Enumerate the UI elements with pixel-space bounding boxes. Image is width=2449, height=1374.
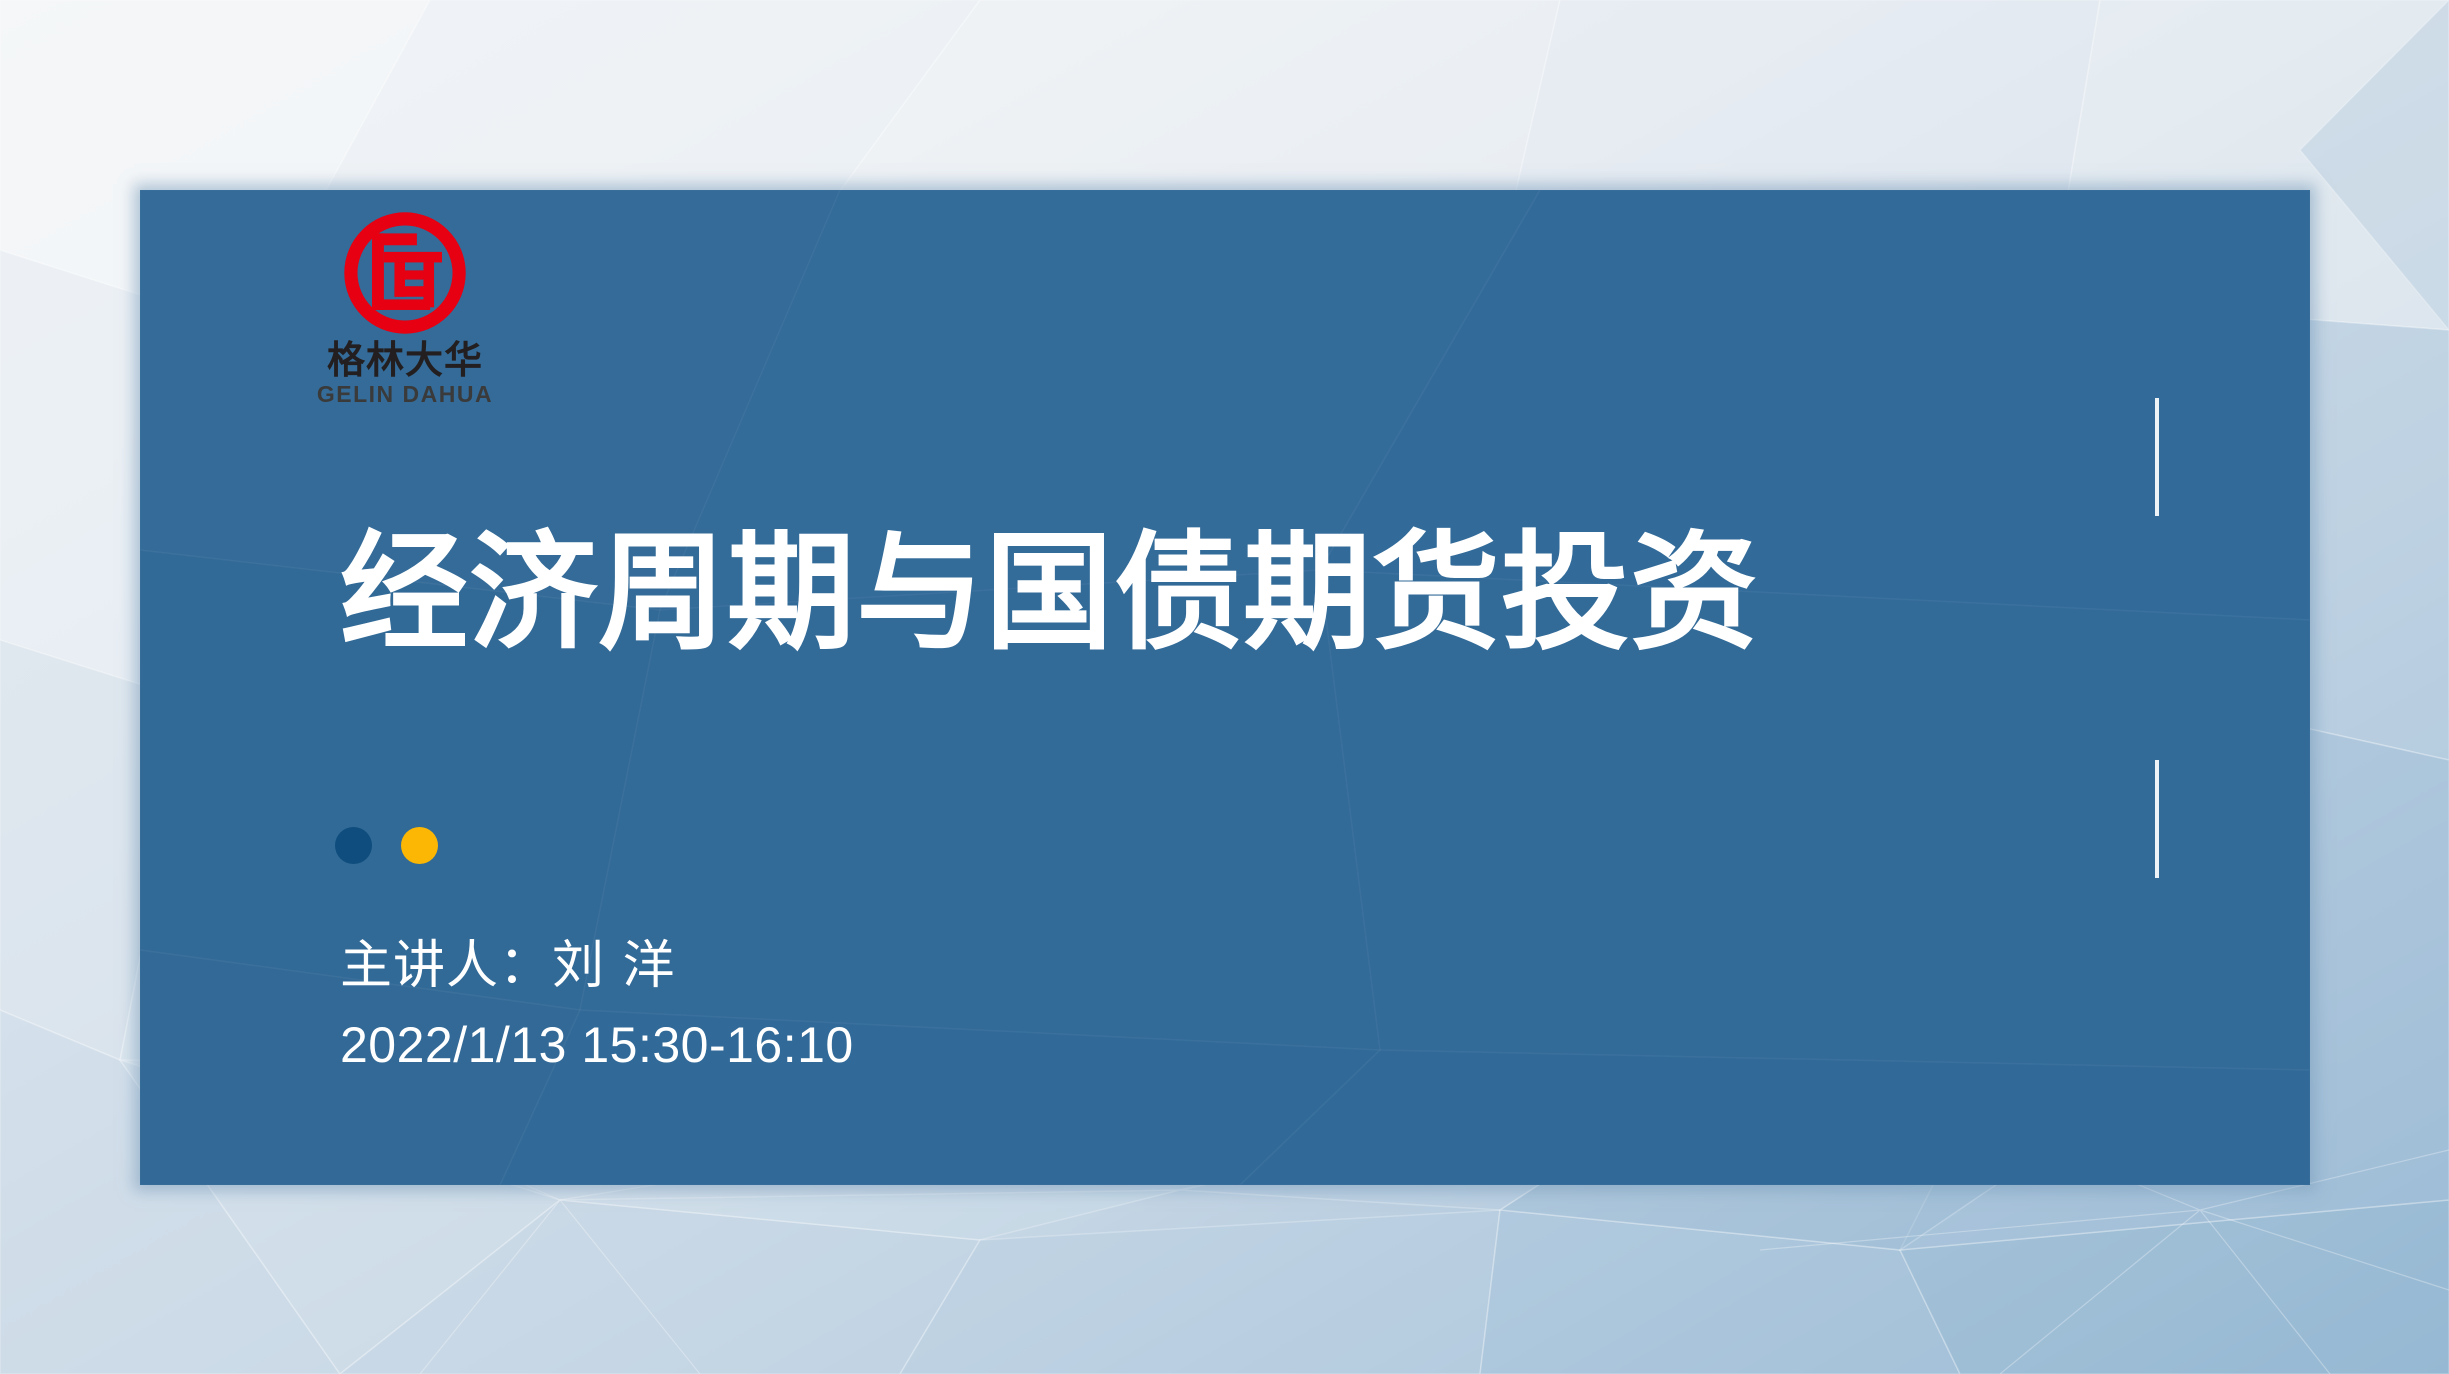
presentation-slide: 格林大华 GELIN DAHUA 经济周期与国债期货投资 主讲人：刘 洋 202… <box>0 0 2449 1374</box>
yellow-dot <box>401 827 438 864</box>
accent-rule-top <box>2155 398 2159 516</box>
title-panel: 格林大华 GELIN DAHUA 经济周期与国债期货投资 主讲人：刘 洋 202… <box>140 190 2310 1185</box>
accent-rule-bottom <box>2155 760 2159 878</box>
logo-name-cn: 格林大华 <box>305 341 505 379</box>
navy-dot <box>335 827 372 864</box>
logo-name-en: GELIN DAHUA <box>305 383 505 406</box>
presenter-label: 主讲人：刘 洋 <box>340 923 676 998</box>
gelin-dahua-seal-icon <box>339 207 471 339</box>
datetime-label: 2022/1/13 15:30-16:10 <box>340 1016 854 1074</box>
company-logo: 格林大华 GELIN DAHUA <box>305 207 505 406</box>
page-title: 经济周期与国债期货投资 <box>340 520 1759 667</box>
decorative-dots <box>335 827 438 864</box>
